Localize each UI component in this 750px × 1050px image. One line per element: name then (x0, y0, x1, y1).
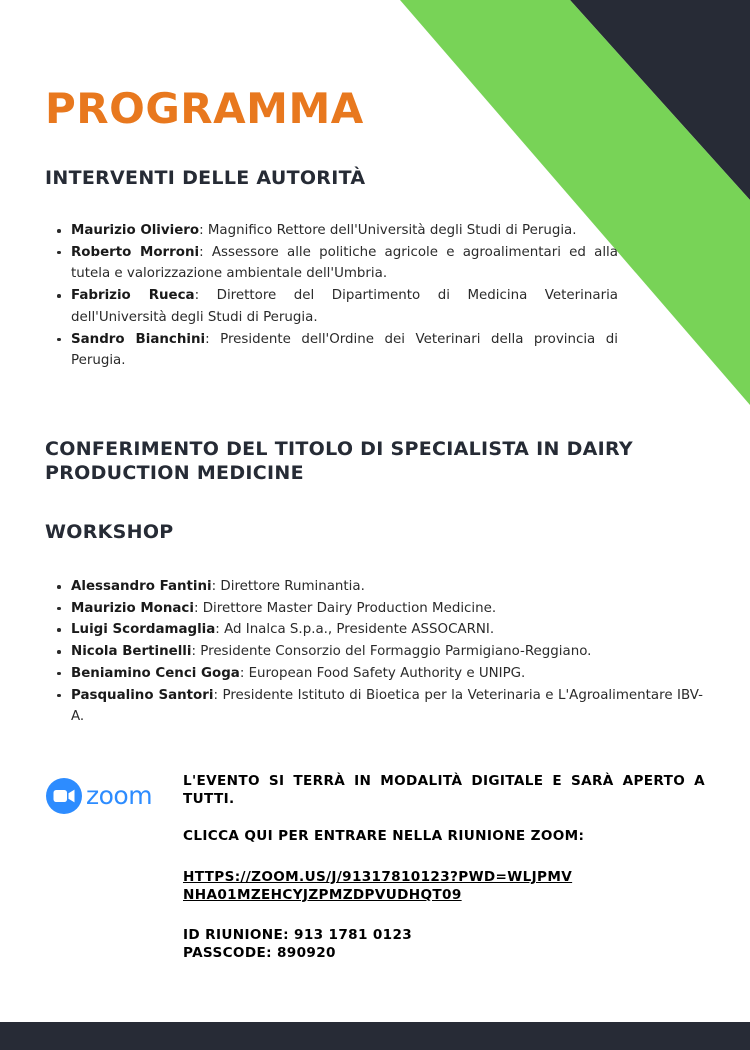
speaker-role: : Presidente Consorzio del Formaggio Par… (192, 644, 592, 659)
speaker-name: Beniamino Cenci Goga (71, 666, 240, 681)
zoom-intro-text: L'EVENTO SI TERRÀ IN MODALITÀ DIGITALE E… (183, 772, 705, 827)
list-item: Maurizio Oliviero: Magnifico Rettore del… (48, 220, 618, 242)
speaker-name: Nicola Bertinelli (71, 644, 192, 659)
speaker-name: Sandro Bianchini (71, 332, 205, 347)
zoom-passcode: PASSCODE: 890920 (183, 944, 705, 962)
zoom-logo-svg: zoom (45, 777, 173, 815)
section-heading-workshop: WORKSHOP (45, 520, 174, 544)
speaker-name: Fabrizio Rueca (71, 288, 195, 303)
page-title: PROGRAMMA (45, 88, 364, 130)
list-item: Maurizio Monaci: Direttore Master Dairy … (48, 598, 703, 620)
speaker-name: Pasqualino Santori (71, 688, 213, 703)
list-item: Alessandro Fantini: Direttore Ruminantia… (48, 576, 703, 598)
list-item: Luigi Scordamaglia: Ad Inalca S.p.a., Pr… (48, 619, 703, 641)
speaker-name: Alessandro Fantini (71, 579, 212, 594)
speaker-role: : Direttore Ruminantia. (212, 579, 365, 594)
list-item: Beniamino Cenci Goga: European Food Safe… (48, 663, 703, 685)
list-item: Pasqualino Santori: Presidente Istituto … (48, 685, 703, 728)
speaker-role: : European Food Safety Authority e UNIPG… (240, 666, 525, 681)
video-camera-icon (54, 790, 75, 803)
zoom-credentials: ID RIUNIONE: 913 1781 0123 PASSCODE: 890… (183, 926, 705, 962)
list-item: Fabrizio Rueca: Direttore del Dipartimen… (48, 285, 618, 328)
flyer-page: PROGRAMMA INTERVENTI DELLE AUTORITÀ Maur… (0, 0, 750, 1050)
speaker-name: Maurizio Monaci (71, 601, 194, 616)
zoom-wordmark: zoom (86, 781, 152, 810)
workshop-list: Alessandro Fantini: Direttore Ruminantia… (48, 576, 703, 728)
list-item: Roberto Morroni: Assessore alle politich… (48, 242, 618, 285)
zoom-meeting-link[interactable]: HTTPS://ZOOM.US/J/91317810123?PWD=WLJPMV… (183, 868, 573, 904)
speaker-name: Luigi Scordamaglia (71, 622, 215, 637)
list-item: Sandro Bianchini: Presidente dell'Ordine… (48, 329, 618, 372)
zoom-logo: zoom (45, 776, 175, 816)
zoom-cta-text: CLICCA QUI PER ENTRARE NELLA RIUNIONE ZO… (183, 827, 705, 845)
speaker-role: : Direttore Master Dairy Production Medi… (194, 601, 496, 616)
list-item: Nicola Bertinelli: Presidente Consorzio … (48, 641, 703, 663)
speaker-name: Roberto Morroni (71, 245, 199, 260)
speaker-name: Maurizio Oliviero (71, 223, 199, 238)
speaker-role: : Ad Inalca S.p.a., Presidente ASSOCARNI… (215, 622, 494, 637)
zoom-meeting-id: ID RIUNIONE: 913 1781 0123 (183, 926, 705, 944)
section-heading-conferment: CONFERIMENTO DEL TITOLO DI SPECIALISTA I… (45, 437, 665, 486)
footer-bar (0, 1022, 750, 1050)
authorities-list: Maurizio Oliviero: Magnifico Rettore del… (48, 220, 618, 372)
speaker-role: : Magnifico Rettore dell'Università degl… (199, 223, 576, 238)
section-heading-authorities: INTERVENTI DELLE AUTORITÀ (45, 166, 365, 190)
zoom-info: L'EVENTO SI TERRÀ IN MODALITÀ DIGITALE E… (183, 772, 705, 963)
